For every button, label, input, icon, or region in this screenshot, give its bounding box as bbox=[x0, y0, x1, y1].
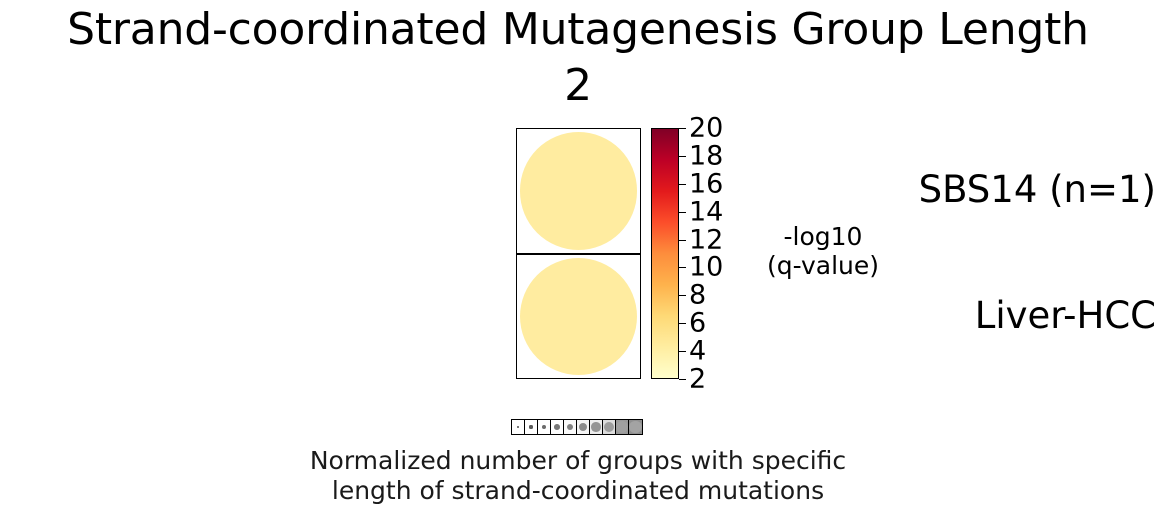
size-legend-cell bbox=[603, 420, 616, 434]
colorbar-tick bbox=[679, 212, 686, 213]
colorbar-tick-label: 6 bbox=[689, 310, 706, 337]
page-title: Strand-coordinated Mutagenesis Group Len… bbox=[0, 2, 1156, 114]
size-legend-cell bbox=[577, 420, 590, 434]
colorbar-tick-label: 12 bbox=[689, 226, 723, 253]
colorbar-tick-label: 14 bbox=[689, 198, 723, 225]
size-legend-dot bbox=[604, 422, 615, 433]
colorbar: 2018161412108642 bbox=[651, 128, 679, 379]
colorbar-tick bbox=[679, 379, 686, 380]
size-legend-cell bbox=[512, 420, 525, 434]
colorbar-tick-label: 16 bbox=[689, 170, 723, 197]
size-legend-dot bbox=[616, 421, 628, 433]
colorbar-tick bbox=[679, 351, 686, 352]
size-legend-dot bbox=[591, 422, 600, 431]
heatmap-cell-liver-hcc[interactable] bbox=[516, 254, 641, 380]
size-legend-dot bbox=[542, 425, 546, 429]
colorbar-tick-label: 20 bbox=[689, 115, 723, 142]
bubble-marker[interactable] bbox=[520, 132, 638, 250]
colorbar-tick bbox=[679, 323, 686, 324]
size-legend-cell bbox=[590, 420, 603, 434]
size-legend-cell bbox=[616, 420, 629, 434]
colorbar-tick-label: 8 bbox=[689, 282, 706, 309]
colorbar-gradient bbox=[651, 128, 679, 379]
size-legend-dot bbox=[579, 423, 587, 431]
colorbar-axis-label: -log10 (q-value) bbox=[728, 222, 918, 280]
size-legend bbox=[511, 419, 643, 435]
colorbar-tick bbox=[679, 156, 686, 157]
heatmap-grid bbox=[516, 128, 641, 379]
bubble-marker[interactable] bbox=[520, 258, 638, 376]
size-legend-dot bbox=[554, 424, 560, 430]
colorbar-tick-label: 4 bbox=[689, 338, 706, 365]
colorbar-tick bbox=[679, 267, 686, 268]
row-label-liver-hcc: Liver-HCC bbox=[636, 296, 1156, 336]
size-legend-dot bbox=[529, 425, 532, 428]
size-legend-cell bbox=[538, 420, 551, 434]
size-legend-dot bbox=[517, 426, 519, 428]
colorbar-tick-label: 18 bbox=[689, 142, 723, 169]
colorbar-tick bbox=[679, 184, 686, 185]
size-legend-cell bbox=[551, 420, 564, 434]
size-legend-dot bbox=[567, 424, 574, 431]
heatmap-cell-sbs14[interactable] bbox=[516, 128, 641, 254]
colorbar-tick bbox=[679, 240, 686, 241]
colorbar-tick bbox=[679, 128, 686, 129]
size-legend-cell bbox=[629, 420, 642, 434]
colorbar-tick bbox=[679, 295, 686, 296]
size-legend-caption: Normalized number of groups with specifi… bbox=[0, 446, 1156, 506]
size-legend-dot bbox=[629, 421, 641, 433]
size-legend-cell bbox=[564, 420, 577, 434]
colorbar-tick-label: 2 bbox=[689, 366, 706, 393]
colorbar-tick-label: 10 bbox=[689, 254, 723, 281]
size-legend-cell bbox=[525, 420, 538, 434]
